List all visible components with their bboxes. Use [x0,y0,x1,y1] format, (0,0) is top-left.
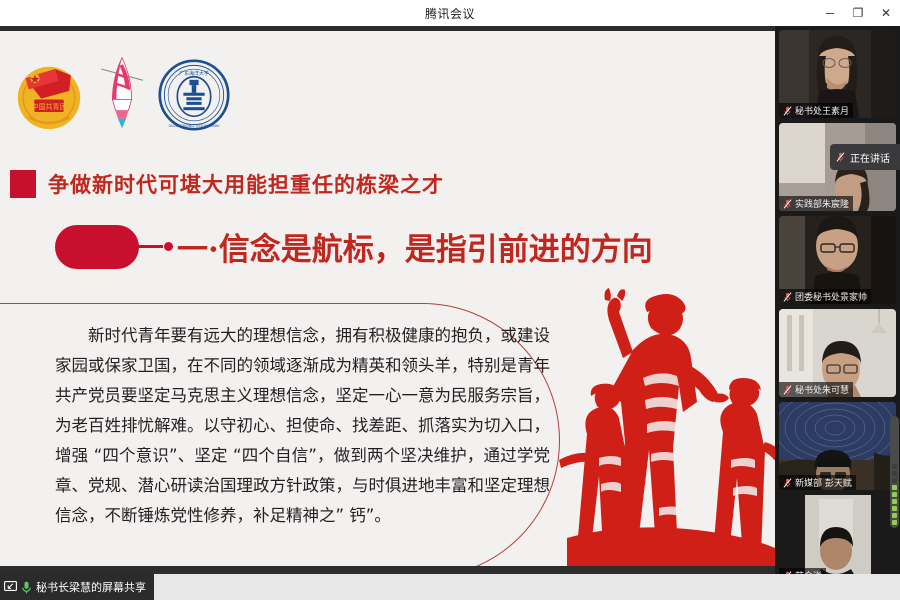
audio-level-segment [892,464,897,469]
audio-level-segment [892,506,897,511]
participant-name-bar: 秘书处朱可慧 [779,382,853,397]
title-bar: 腾讯会议 ─ ❐ ✕ [0,0,900,26]
audio-level-segment [892,492,897,497]
participant-tile[interactable]: 新媒部 彭天赋 [779,402,896,490]
participant-tile[interactable]: 范金洋 [779,495,896,583]
participant-name: 团委秘书处景家帅 [795,290,867,303]
audio-level-segment [892,520,897,525]
microphone-muted-icon [836,152,845,162]
audio-level-segment [892,471,897,476]
audio-level-segment [892,485,897,490]
slide-headline: 争做新时代可堪大用能担重任的栋梁之才 [10,169,444,199]
microphone-muted-icon [783,385,792,395]
body-paragraph: 新时代青年要有远大的理想信念，拥有积极健康的抱负，或建设家园或保家卫国，在不同的… [55,321,550,531]
microphone-muted-icon [783,106,792,116]
audio-level-meter [890,416,899,528]
maximize-button[interactable]: ❐ [844,0,872,26]
window-title: 腾讯会议 [425,5,475,22]
university-seal-icon: 广东海洋大学 GUANGDONG OCEAN UNIV [156,57,232,138]
microphone-active-icon [21,581,32,594]
participant-name: 新媒部 彭天赋 [795,476,852,489]
screen-share-icon [4,581,17,593]
subtitle-text: 一·信念是航标，是指引前进的方向 [177,224,653,269]
tencent-meeting-window: 腾讯会议 ─ ❐ ✕ 中国共青团 [0,0,900,600]
speaking-indicator-label: 正在讲话 [850,150,890,165]
headline-text: 争做新时代可堪大用能担重任的栋梁之才 [48,169,444,199]
audio-level-segment [892,478,897,483]
svg-text:中国共青团: 中国共青团 [32,102,67,111]
microphone-muted-icon [783,292,792,302]
participant-name: 秘书处朱可慧 [795,383,849,396]
presentation-slide: 中国共青团 [0,31,775,566]
participant-tile[interactable]: 团委秘书处景家帅 [779,216,896,304]
subtitle-dot [164,242,173,251]
participant-name-bar: 秘书处王素月 [779,103,853,118]
participant-name-bar: 团委秘书处景家帅 [779,289,871,304]
bottom-status-bar: 秘书长梁慧的屏幕共享 [0,574,900,600]
subtitle-dash [137,245,163,248]
participant-name-bar: 实践部朱宸隆 [779,196,853,211]
microphone-muted-icon [783,199,792,209]
screen-share-label: 秘书长梁慧的屏幕共享 [36,579,146,595]
speaking-indicator-toast: 正在讲话 [830,144,900,170]
rocket-torch-icon [98,53,146,138]
window-controls: ─ ❐ ✕ [816,0,900,26]
participant-tile[interactable]: 秘书处王素月 [779,30,896,118]
subtitle-pill-shape [55,225,139,269]
participant-tile[interactable]: 秘书处朱可慧 [779,309,896,397]
audio-level-segment [892,513,897,518]
participant-name: 秘书处王素月 [795,104,849,117]
shared-screen-stage[interactable]: 中国共青团 [0,26,775,574]
audio-level-segment [892,499,897,504]
headline-accent-block [10,170,36,198]
communist-youth-league-emblem-icon: 中国共青团 [10,55,88,138]
close-button[interactable]: ✕ [872,0,900,26]
participant-name: 实践部朱宸隆 [795,197,849,210]
minimize-button[interactable]: ─ [816,0,844,26]
svg-text:GUANGDONG OCEAN UNIV: GUANGDONG OCEAN UNIV [168,123,219,128]
slide-subtitle: 一·信念是航标，是指引前进的方向 [55,224,653,269]
microphone-muted-icon [783,478,792,488]
slide-logos: 中国共青团 [10,53,232,138]
screen-share-status[interactable]: 秘书长梁慧的屏幕共享 [0,574,154,600]
participant-name-bar: 新媒部 彭天赋 [779,475,856,490]
participant-video-strip[interactable]: 秘书处王素月 实践部朱宸隆 [775,26,900,574]
